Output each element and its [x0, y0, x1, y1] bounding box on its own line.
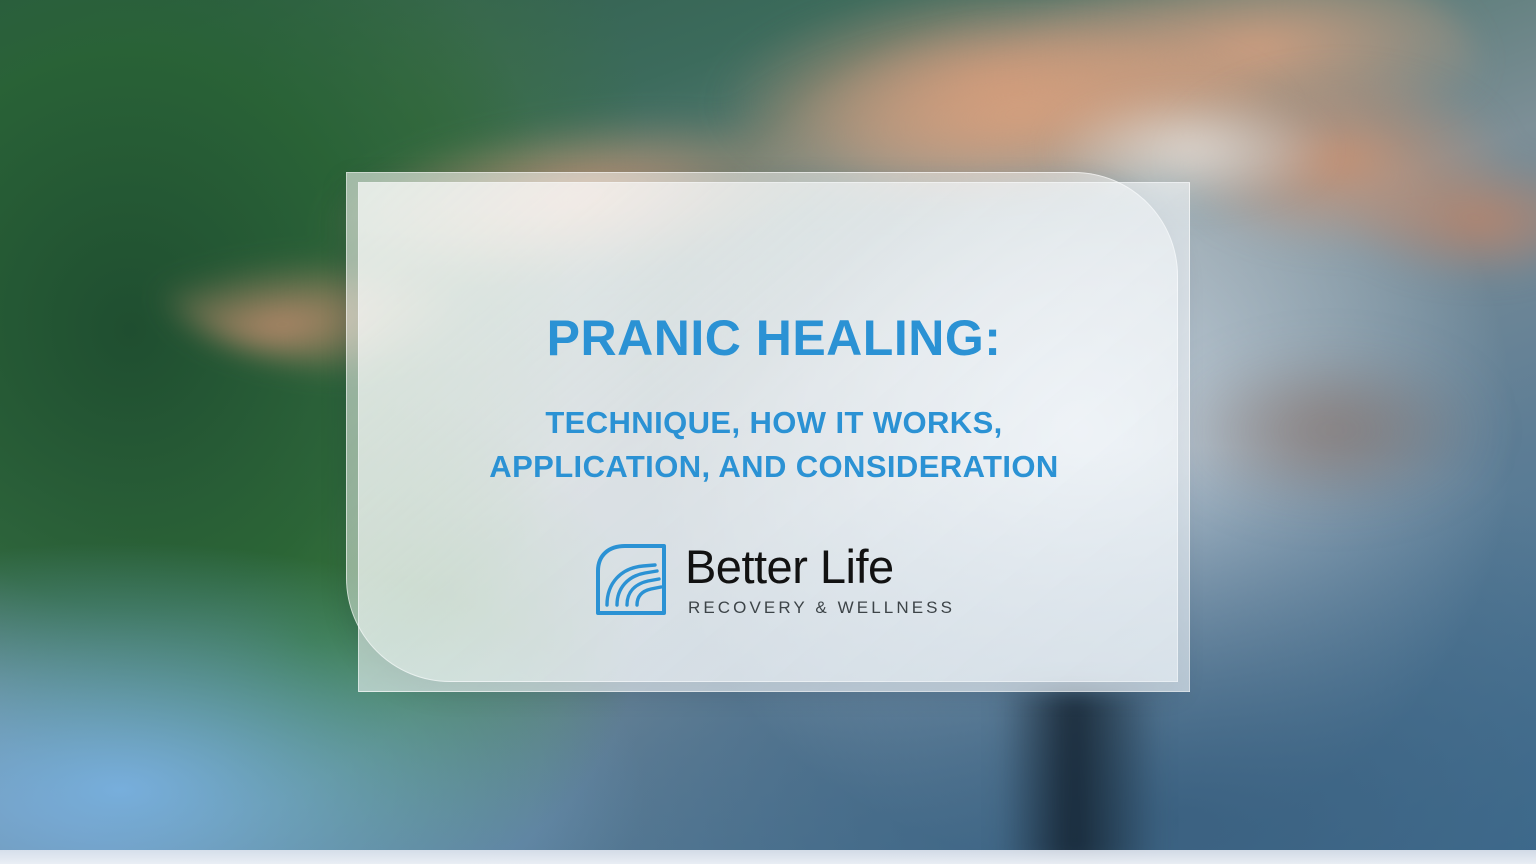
brand-logo: Better Life RECOVERY & WELLNESS	[593, 542, 955, 618]
wave-mark-icon	[593, 542, 669, 618]
logo-wordmark: Better Life	[685, 543, 955, 590]
subtitle-line-1: TECHNIQUE, HOW IT WORKS,	[489, 401, 1058, 446]
background-seam-shadow	[1000, 690, 1160, 864]
card-content: PRANIC HEALING: TECHNIQUE, HOW IT WORKS,…	[358, 182, 1190, 692]
slide-canvas: PRANIC HEALING: TECHNIQUE, HOW IT WORKS,…	[0, 0, 1536, 864]
page-subtitle: TECHNIQUE, HOW IT WORKS, APPLICATION, AN…	[489, 401, 1058, 490]
title-card: PRANIC HEALING: TECHNIQUE, HOW IT WORKS,…	[346, 172, 1190, 692]
subtitle-line-2: APPLICATION, AND CONSIDERATION	[489, 445, 1058, 490]
logo-tagline: RECOVERY & WELLNESS	[688, 599, 955, 616]
logo-text: Better Life RECOVERY & WELLNESS	[685, 543, 955, 616]
bottom-edge-strip	[0, 850, 1536, 864]
arm-shadow	[1150, 330, 1536, 530]
page-title: PRANIC HEALING:	[547, 312, 1002, 365]
